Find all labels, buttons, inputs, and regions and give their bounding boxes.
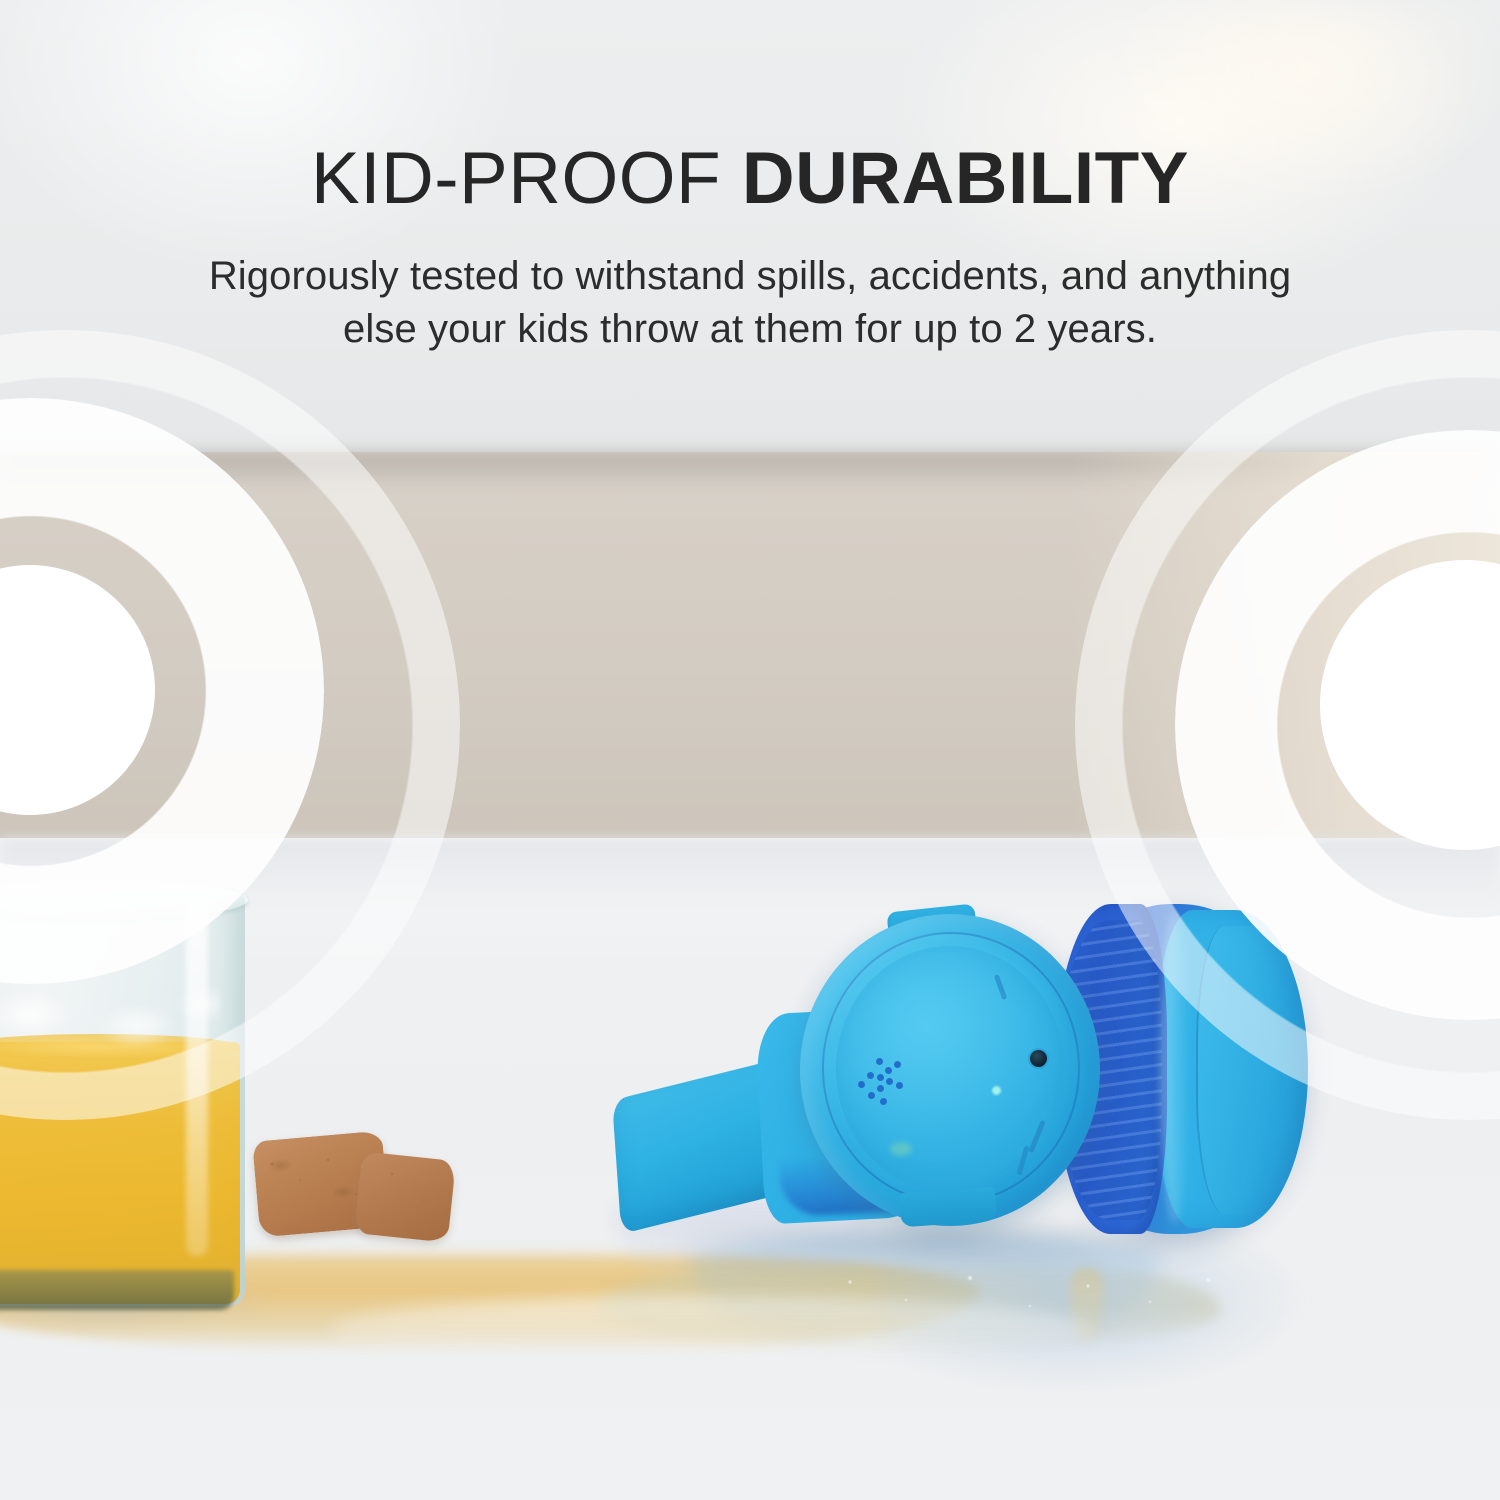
text-block: KID-PROOF DURABILITY Rigorously tested t… bbox=[0, 0, 1500, 356]
ear-cup-right-highlight bbox=[1160, 912, 1190, 1224]
page-title: KID-PROOF DURABILITY bbox=[0, 142, 1500, 216]
subtitle-line-2: else your kids throw at them for up to 2… bbox=[0, 303, 1500, 356]
wall-warm-light bbox=[1070, 452, 1500, 852]
headline-bold-part: DURABILITY bbox=[742, 138, 1189, 219]
green-reflection bbox=[890, 1142, 912, 1156]
ear-cup-left-rim bbox=[800, 914, 1100, 1226]
juice-glass bbox=[0, 866, 245, 1306]
page-subtitle: Rigorously tested to withstand spills, a… bbox=[0, 250, 1500, 356]
ear-cup-right-plate bbox=[1196, 926, 1306, 1214]
headline-light-part: KID-PROOF bbox=[311, 138, 742, 219]
hinge-bottom bbox=[899, 1187, 997, 1228]
toast-texture bbox=[252, 1140, 462, 1236]
juice-pulp-sediment bbox=[0, 1270, 234, 1310]
audio-jack-port bbox=[1030, 1050, 1047, 1067]
promo-banner: (function(){ var lo = document.querySele… bbox=[0, 0, 1500, 1500]
specular-highlight bbox=[992, 1086, 1001, 1095]
spill-bubbles bbox=[820, 1262, 1240, 1332]
belkin-dot-logo-icon bbox=[858, 1058, 910, 1110]
subtitle-line-1: Rigorously tested to withstand spills, a… bbox=[0, 250, 1500, 303]
kids-headphones bbox=[600, 890, 1320, 1310]
glass-highlight-right bbox=[186, 906, 208, 1256]
